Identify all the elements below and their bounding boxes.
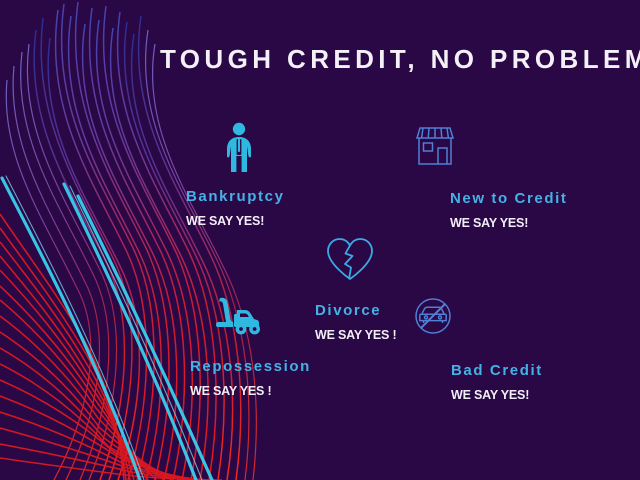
promo-banner: TOUGH CREDIT, NO PROBLEM Bankruptcy WE S… bbox=[0, 0, 640, 480]
feature-title: Bankruptcy bbox=[186, 188, 285, 205]
feature-subtext: WE SAY YES! bbox=[450, 216, 567, 230]
feature-title: Repossession bbox=[190, 358, 311, 375]
person-icon bbox=[222, 122, 285, 178]
feature-title: Divorce bbox=[315, 302, 396, 319]
feature-bad-credit: Bad Credit WE SAY YES! bbox=[451, 296, 543, 402]
feature-divorce: Divorce WE SAY YES ! bbox=[315, 236, 396, 342]
feature-repossession: Repossession WE SAY YES ! bbox=[190, 292, 311, 398]
feature-subtext: WE SAY YES ! bbox=[315, 328, 396, 342]
feature-bankruptcy: Bankruptcy WE SAY YES! bbox=[186, 122, 285, 228]
tow-truck-icon bbox=[212, 292, 311, 348]
feature-subtext: WE SAY YES! bbox=[186, 214, 285, 228]
feature-title: Bad Credit bbox=[451, 362, 543, 379]
storefront-icon bbox=[414, 124, 567, 180]
no-car-icon bbox=[413, 296, 543, 352]
feature-new-to-credit: New to Credit WE SAY YES! bbox=[450, 124, 567, 230]
feature-title: New to Credit bbox=[450, 190, 567, 207]
feature-subtext: WE SAY YES ! bbox=[190, 384, 311, 398]
broken-heart-icon bbox=[325, 236, 396, 292]
feature-subtext: WE SAY YES! bbox=[451, 388, 543, 402]
page-title: TOUGH CREDIT, NO PROBLEM bbox=[160, 44, 620, 75]
